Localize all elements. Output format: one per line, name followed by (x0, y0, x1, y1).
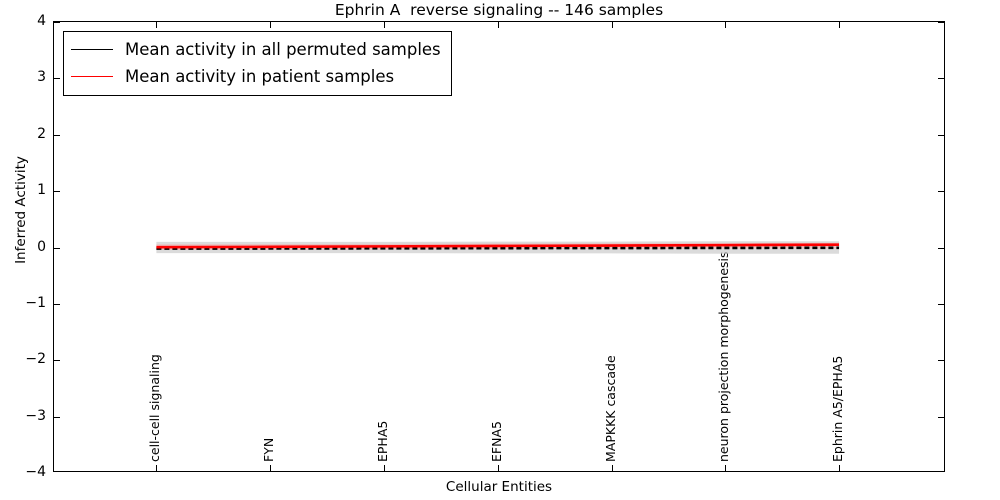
legend-line-swatch-red-icon (71, 76, 113, 77)
y-tick-label: −4 (6, 464, 46, 480)
y-tick-label: 1 (6, 182, 46, 198)
y-tick-label: 4 (6, 13, 46, 29)
plot-area: cell-cell signalingFYNEPHA5EFNA5MAPKKK c… (53, 21, 945, 472)
legend-item-patient: Mean activity in patient samples (71, 63, 441, 90)
legend-item-permuted: Mean activity in all permuted samples (71, 36, 441, 63)
y-tick-label: −1 (6, 295, 46, 311)
y-tick-label: −2 (6, 351, 46, 367)
x-axis-label: Cellular Entities (53, 479, 945, 495)
legend-line-swatch-black-icon (71, 49, 113, 50)
legend-box: Mean activity in all permuted samples Me… (63, 31, 452, 96)
y-tick-label: 3 (6, 69, 46, 85)
legend-label-patient: Mean activity in patient samples (125, 67, 394, 86)
y-tick-label: 2 (6, 126, 46, 142)
y-tick-label: 0 (6, 239, 46, 255)
y-tick-label: −3 (6, 408, 46, 424)
chart-title: Ephrin A reverse signaling -- 146 sample… (53, 1, 945, 20)
figure-canvas: Ephrin A reverse signaling -- 146 sample… (0, 0, 1000, 500)
legend-label-permuted: Mean activity in all permuted samples (125, 40, 441, 59)
